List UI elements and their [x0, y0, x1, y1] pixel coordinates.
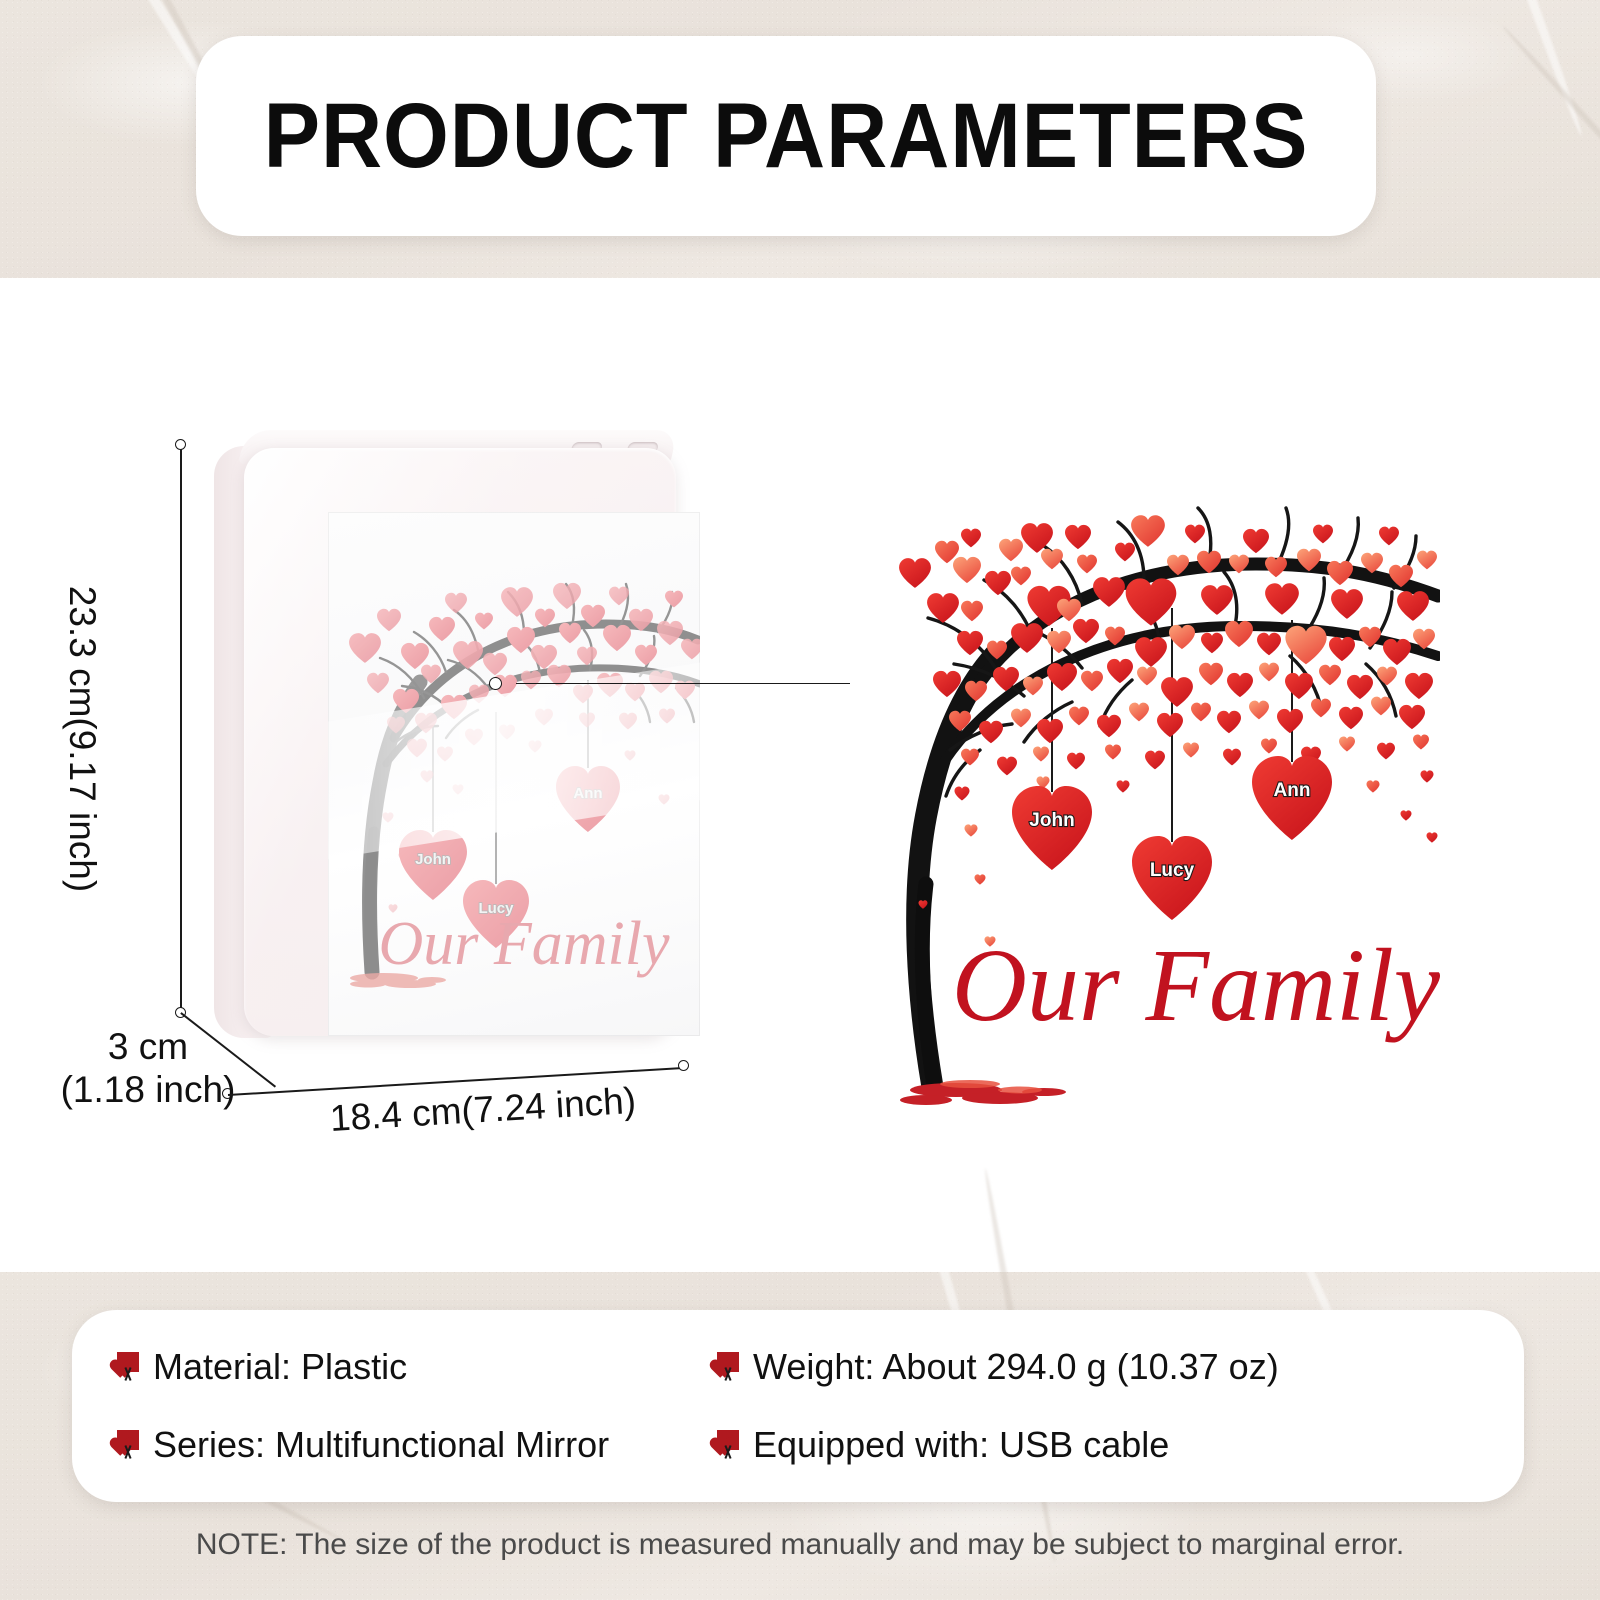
frame-front-bezel: John Lucy Ann — [244, 448, 676, 1036]
heart-bullet-icon — [716, 1430, 740, 1460]
spec-item-series: Series: Multifunctional Mirror — [116, 1424, 716, 1466]
illustration-name-label-3: Ann — [1274, 780, 1311, 801]
depth-dimension-label: 3 cm (1.18 inch) — [38, 1026, 258, 1112]
depth-label-line1: 3 cm — [38, 1026, 258, 1069]
heart-tree-illustration-red: John Lucy Ann Our Family — [860, 480, 1440, 1120]
height-dimension-label: 23.3 cm(9.17 inch) — [61, 529, 103, 949]
heart-bullet-icon — [116, 1352, 140, 1382]
width-dimension-label: 18.4 cm(7.24 inch) — [329, 1080, 637, 1140]
callout-leader-line — [516, 683, 850, 684]
our-family-script-pink: Our Family — [378, 910, 670, 978]
spec-item-weight: Weight: About 294.0 g (10.37 oz) — [716, 1346, 1476, 1388]
spec-item-material: Material: Plastic — [116, 1346, 716, 1388]
design-illustration: John Lucy Ann Our Family — [860, 480, 1440, 1120]
width-dimension-endpoint — [678, 1060, 689, 1071]
spec-label-series: Series: Multifunctional Mirror — [153, 1424, 609, 1466]
product-photo: John Lucy Ann — [214, 424, 676, 1056]
illustration-name-label-2: Lucy — [1150, 860, 1195, 881]
illustration-name-label-1: John — [1029, 810, 1074, 831]
our-family-script-red: Our Family — [952, 928, 1440, 1043]
specs-grid: Material: Plastic Weight: About 294.0 g … — [116, 1346, 1476, 1466]
spec-label-material: Material: Plastic — [153, 1346, 407, 1388]
disclaimer-note: NOTE: The size of the product is measure… — [0, 1528, 1600, 1562]
spec-label-equipped-with: Equipped with: USB cable — [753, 1424, 1169, 1466]
mirror-print-window: John Lucy Ann — [328, 512, 700, 1036]
spec-item-equipped-with: Equipped with: USB cable — [716, 1424, 1476, 1466]
heart-bullet-icon — [116, 1430, 140, 1460]
height-dimension-endpoint — [175, 439, 186, 450]
height-dimension-line — [180, 444, 182, 1012]
title-card: PRODUCT PARAMETERS — [196, 36, 1376, 236]
heart-bullet-icon — [716, 1352, 740, 1382]
depth-label-line2: (1.18 inch) — [38, 1069, 258, 1112]
name-heart-label-1: John — [415, 851, 451, 868]
callout-anchor-dot — [489, 677, 502, 690]
page-title: PRODUCT PARAMETERS — [243, 36, 1329, 236]
spec-label-weight: Weight: About 294.0 g (10.37 oz) — [753, 1346, 1279, 1388]
